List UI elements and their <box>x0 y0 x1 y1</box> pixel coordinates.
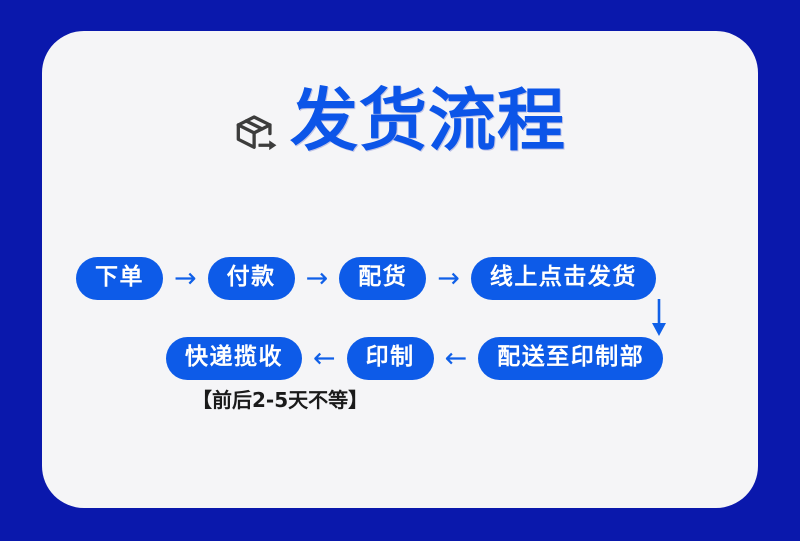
footnote-duration-note: 【前后2-5天不等】 <box>192 384 368 413</box>
flow-step-payment[interactable]: 付款 <box>208 257 295 300</box>
arrow-left-icon: ← <box>302 345 347 372</box>
content-card: 发货流程 下单 → 付款 → 配货 → 线上点击发货 快递揽收 ← 印制 ← 配… <box>42 31 758 508</box>
page-title: 发货流程 <box>42 86 758 158</box>
shipping-process-poster: 发货流程 下单 → 付款 → 配货 → 线上点击发货 快递揽收 ← 印制 ← 配… <box>0 0 800 541</box>
arrow-left-icon: ← <box>434 345 479 372</box>
flow-step-picking[interactable]: 配货 <box>339 257 426 300</box>
page-title-text: 发货流程 <box>290 88 566 156</box>
arrow-right-icon: → <box>426 265 471 292</box>
flow-step-printing[interactable]: 印制 <box>347 337 434 380</box>
package-shipping-icon <box>234 112 280 158</box>
flow-row-2: 快递揽收 ← 印制 ← 配送至印制部 <box>166 337 663 380</box>
arrow-down-icon <box>648 299 670 337</box>
arrow-right-icon: → <box>295 265 340 292</box>
arrow-right-icon: → <box>163 265 208 292</box>
flow-step-courier-pickup[interactable]: 快递揽收 <box>166 337 302 380</box>
flow-step-deliver-to-print-dept[interactable]: 配送至印制部 <box>478 337 663 380</box>
flow-step-order[interactable]: 下单 <box>76 257 163 300</box>
flow-row-1: 下单 → 付款 → 配货 → 线上点击发货 <box>76 257 656 300</box>
flow-step-online-ship-click[interactable]: 线上点击发货 <box>471 257 656 300</box>
